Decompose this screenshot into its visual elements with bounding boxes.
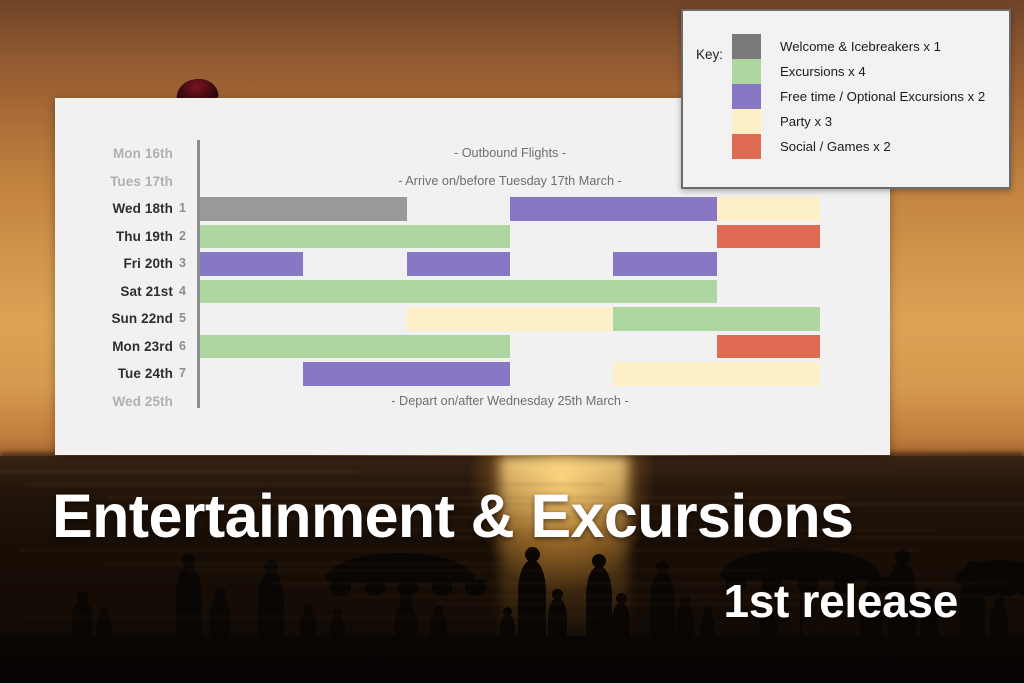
chart-row: Tue 24th7: [55, 360, 890, 388]
chart-row: Thu 19th2: [55, 223, 890, 251]
chart-bar-segment-freetime: [613, 252, 716, 276]
chart-bar-segment-freetime: [510, 197, 717, 221]
row-day-number: 2: [179, 223, 193, 251]
row-track: [200, 195, 820, 223]
row-day-label: Thu 19th: [55, 223, 173, 251]
row-day-number: 7: [179, 360, 193, 388]
chart-row: Fri 20th3: [55, 250, 890, 278]
row-track: [200, 333, 820, 361]
row-track: [200, 278, 820, 306]
page-title: Entertainment & Excursions: [52, 486, 853, 547]
row-track: [200, 250, 820, 278]
chart-row: Sun 22nd5: [55, 305, 890, 333]
chart-bar-segment-party: [717, 197, 820, 221]
row-track: [200, 360, 820, 388]
chart-bar-segment-freetime: [200, 252, 303, 276]
chart-row: Sat 21st4: [55, 278, 890, 306]
legend-label: Party x 3: [780, 109, 832, 134]
chart-bar-segment-party: [407, 307, 614, 331]
page-subtitle: 1st release: [723, 578, 958, 624]
chart-bar-segment-freetime: [407, 252, 510, 276]
row-day-label: Mon 16th: [55, 140, 173, 168]
legend-item-party: Party x 3: [732, 109, 1004, 134]
chart-bar-segment-welcome: [200, 197, 407, 221]
chart-row: Mon 23rd6: [55, 333, 890, 361]
legend-items: Welcome & Icebreakers x 1Excursions x 4F…: [732, 34, 1004, 159]
row-track: [200, 223, 820, 251]
row-day-number: 6: [179, 333, 193, 361]
row-day-label: Sat 21st: [55, 278, 173, 306]
row-day-label: Mon 23rd: [55, 333, 173, 361]
legend-item-excursions: Excursions x 4: [732, 59, 1004, 84]
chart-row: Wed 18th1: [55, 195, 890, 223]
legend-label: Excursions x 4: [780, 59, 866, 84]
chart-bar-segment-excursions: [200, 225, 510, 249]
row-day-label: Sun 22nd: [55, 305, 173, 333]
legend-label: Social / Games x 2: [780, 134, 891, 159]
legend-swatch-excursions: [732, 59, 761, 84]
row-day-number: 3: [179, 250, 193, 278]
row-day-number: 1: [179, 195, 193, 223]
legend-key-label: Key:: [696, 47, 723, 62]
row-day-label: Wed 25th: [55, 388, 173, 416]
legend-swatch-freetime: [732, 84, 761, 109]
chart-bar-segment-excursions: [613, 307, 820, 331]
row-day-number: 5: [179, 305, 193, 333]
legend-item-social: Social / Games x 2: [732, 134, 1004, 159]
row-day-label: Tue 24th: [55, 360, 173, 388]
row-day-label: Fri 20th: [55, 250, 173, 278]
legend-swatch-party: [732, 109, 761, 134]
legend-item-welcome: Welcome & Icebreakers x 1: [732, 34, 1004, 59]
legend-swatch-social: [732, 134, 761, 159]
chart-bar-segment-excursions: [200, 335, 510, 359]
row-track: [200, 305, 820, 333]
chart-bar-segment-freetime: [303, 362, 510, 386]
legend-box: Key: Welcome & Icebreakers x 1Excursions…: [681, 9, 1011, 189]
legend-swatch-welcome: [732, 34, 761, 59]
chart-bar-segment-social: [717, 335, 820, 359]
chart-bar-segment-excursions: [200, 280, 717, 304]
chart-bar-segment-social: [717, 225, 820, 249]
beach-foreground: [0, 636, 1024, 683]
legend-label: Welcome & Icebreakers x 1: [780, 34, 941, 59]
legend-label: Free time / Optional Excursions x 2: [780, 84, 985, 109]
row-day-label: Tues 17th: [55, 168, 173, 196]
row-day-label: Wed 18th: [55, 195, 173, 223]
legend-item-freetime: Free time / Optional Excursions x 2: [732, 84, 1004, 109]
chart-row: Wed 25th- Depart on/after Wednesday 25th…: [55, 388, 890, 416]
chart-bar-segment-party: [613, 362, 820, 386]
row-day-number: 4: [179, 278, 193, 306]
row-track: [200, 388, 820, 416]
